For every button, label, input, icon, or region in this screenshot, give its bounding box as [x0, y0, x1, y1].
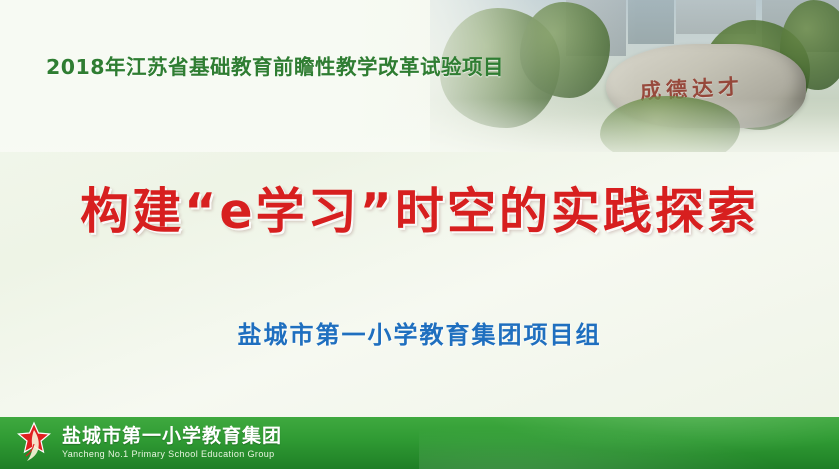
footer-decoration: [419, 417, 839, 469]
footer-logo-group: 盐城市第一小学教育集团 Yancheng No.1 Primary School…: [14, 420, 282, 464]
footer-logo-chinese: 盐城市第一小学教育集团: [62, 425, 282, 447]
project-team-line: 盐城市第一小学教育集团项目组: [0, 315, 839, 350]
footer-bar: 盐城市第一小学教育集团 Yancheng No.1 Primary School…: [0, 417, 839, 469]
footer-logo-english: Yancheng No.1 Primary School Education G…: [62, 448, 282, 460]
school-logo-icon: [14, 420, 54, 464]
footer-logo-text: 盐城市第一小学教育集团 Yancheng No.1 Primary School…: [62, 425, 282, 460]
presentation-slide: 成德达才 2018年江苏省基础教育前瞻性教学改革试验项目 构建“e学习”时空的实…: [0, 0, 839, 469]
project-subtitle: 2018年江苏省基础教育前瞻性教学改革试验项目: [46, 50, 504, 80]
page-title: 构建“e学习”时空的实践探索: [0, 172, 839, 243]
